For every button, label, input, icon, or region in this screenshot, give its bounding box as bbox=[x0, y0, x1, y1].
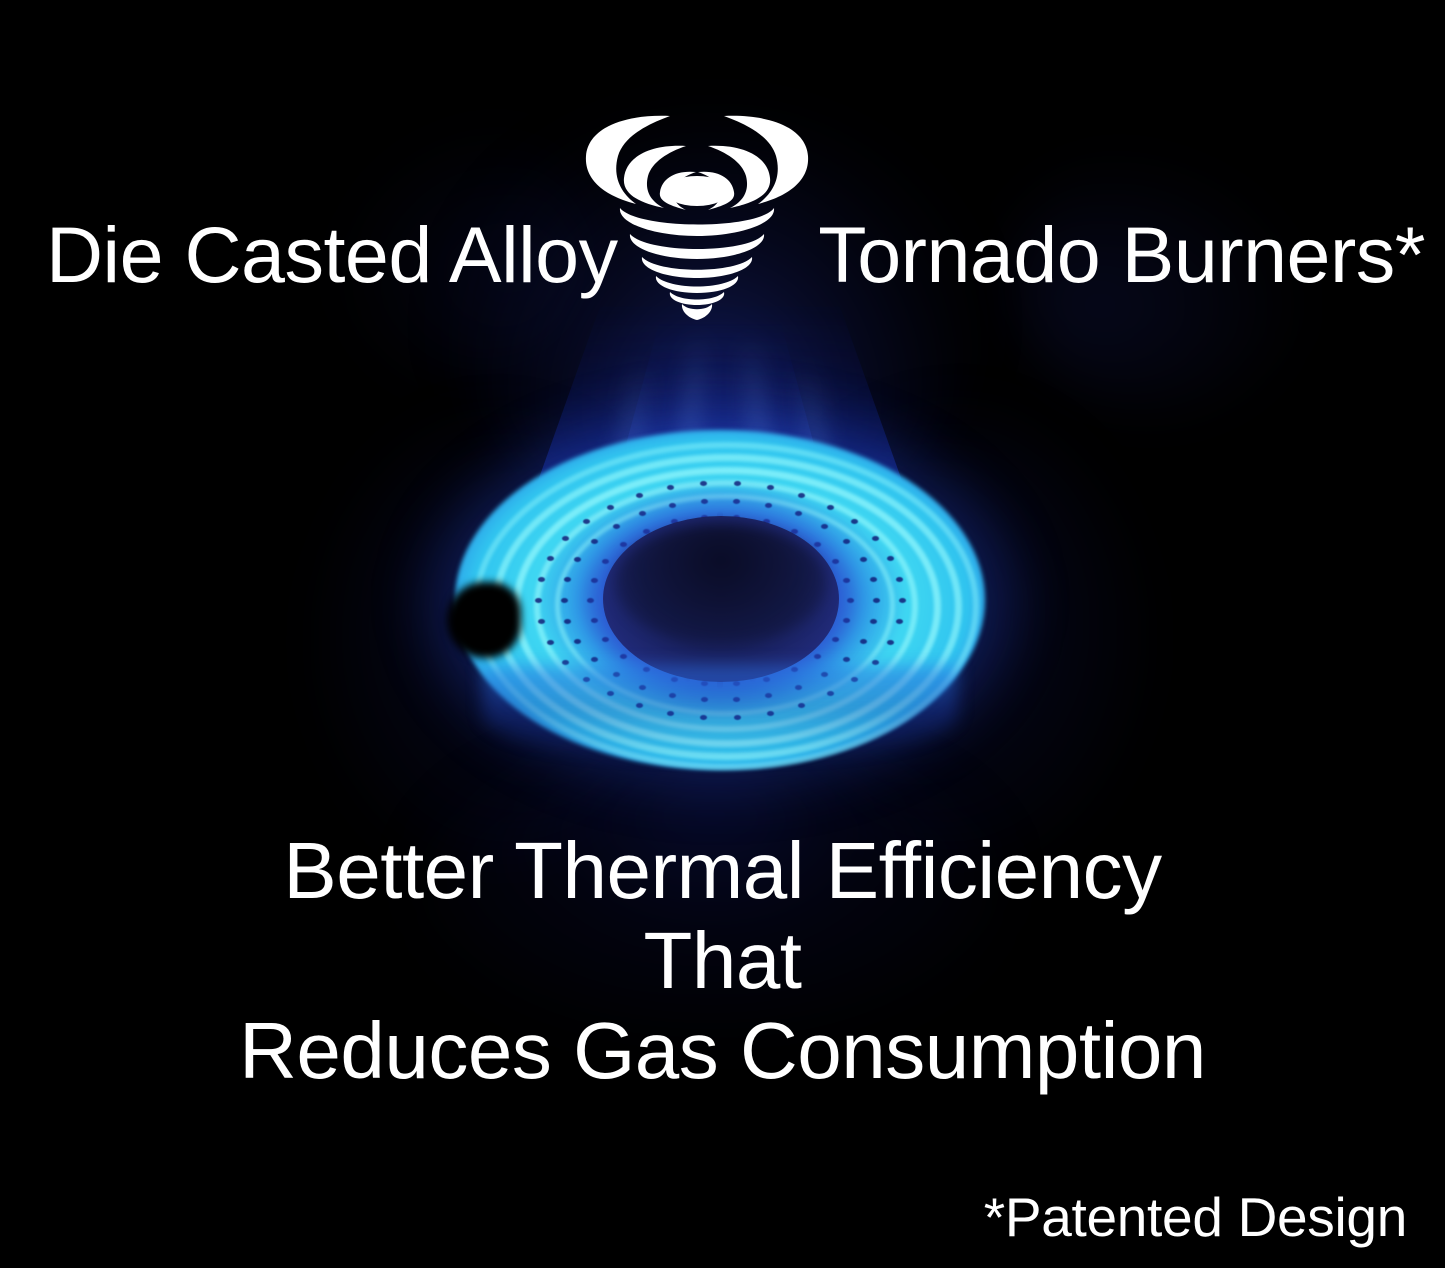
headline-left-text: Die Casted Alloy bbox=[46, 212, 618, 298]
burner-bottom-rim bbox=[483, 666, 957, 762]
subheadline: Better Thermal Efficiency That Reduces G… bbox=[0, 826, 1445, 1096]
subheadline-line-1: Better Thermal Efficiency bbox=[0, 826, 1445, 916]
headline-right-text: Tornado Burners* bbox=[818, 212, 1425, 298]
gas-burner bbox=[455, 430, 985, 770]
subheadline-line-2: That bbox=[0, 916, 1445, 1006]
burner-edge-notch bbox=[447, 582, 521, 658]
subheadline-line-3: Reduces Gas Consumption bbox=[0, 1006, 1445, 1096]
promo-image: Die Casted Alloy Tornado Burners* Better… bbox=[0, 0, 1445, 1268]
footnote-patented-design: *Patented Design bbox=[984, 1186, 1407, 1248]
burner-center-shadow bbox=[615, 524, 827, 644]
